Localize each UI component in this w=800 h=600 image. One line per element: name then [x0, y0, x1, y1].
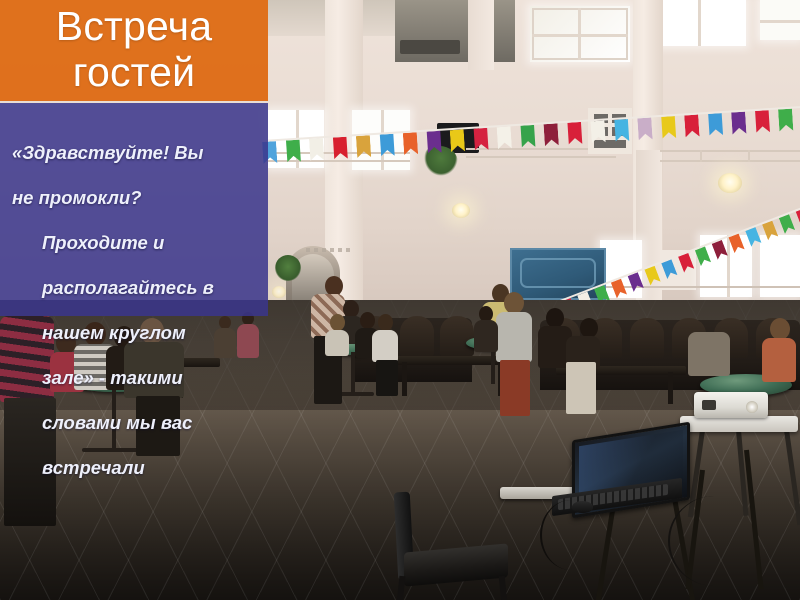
table-leg	[491, 348, 495, 384]
slide-quote-panel: «Здравствуйте! Вы не промокли? Проходите…	[0, 103, 268, 316]
presentation-slide: Встреча гостей «Здравствуйте! Вы не пром…	[0, 0, 800, 600]
quote-line-1: «Здравствуйте! Вы	[8, 142, 258, 165]
railing-post	[700, 150, 702, 162]
quote-line-6: зале» - такими	[8, 367, 258, 390]
bench-leg	[402, 362, 407, 396]
quote-line-7: словами мы вас	[8, 412, 258, 435]
ceiling-lamp	[452, 203, 470, 218]
chair-back	[630, 318, 664, 358]
balcony-railing	[268, 160, 410, 162]
window-mullion	[698, 0, 701, 46]
quote-line-5: нашем круглом	[8, 322, 258, 345]
window-mullion	[760, 20, 800, 23]
ceiling-duct	[400, 40, 460, 54]
projector	[694, 392, 768, 418]
table-leg	[351, 352, 355, 394]
wall-lettering	[306, 248, 352, 252]
railing-post	[748, 150, 750, 162]
quote-line-3: Проходите и	[8, 232, 258, 255]
bench-leg	[668, 372, 673, 404]
quote-line-8: встречали	[8, 457, 258, 480]
cable	[668, 496, 760, 586]
cable	[540, 500, 602, 570]
quote-line-4: располагайтесь в	[8, 277, 258, 300]
window-mullion	[532, 34, 628, 37]
ceiling-lamp	[272, 286, 286, 298]
potted-plant-lower	[275, 255, 301, 281]
balcony-railing	[466, 156, 616, 158]
slide-title-banner: Встреча гостей	[0, 0, 268, 101]
hall-pillar	[468, 0, 494, 70]
chair-back	[440, 316, 474, 356]
slide-title: Встреча гостей	[10, 3, 258, 95]
chair-back	[400, 316, 434, 356]
balcony-railing	[660, 160, 800, 162]
blue-display-board	[510, 248, 606, 300]
projector-lens	[746, 401, 758, 413]
projector-vent	[702, 400, 716, 410]
slide-quote-text: «Здравствуйте! Вы не промокли? Проходите…	[8, 119, 258, 502]
white-folding-table	[680, 416, 798, 432]
ceiling-lamp	[718, 173, 742, 193]
balcony-railing	[660, 150, 800, 152]
quote-line-2: не промокли?	[8, 187, 258, 210]
window-railing	[596, 286, 800, 288]
